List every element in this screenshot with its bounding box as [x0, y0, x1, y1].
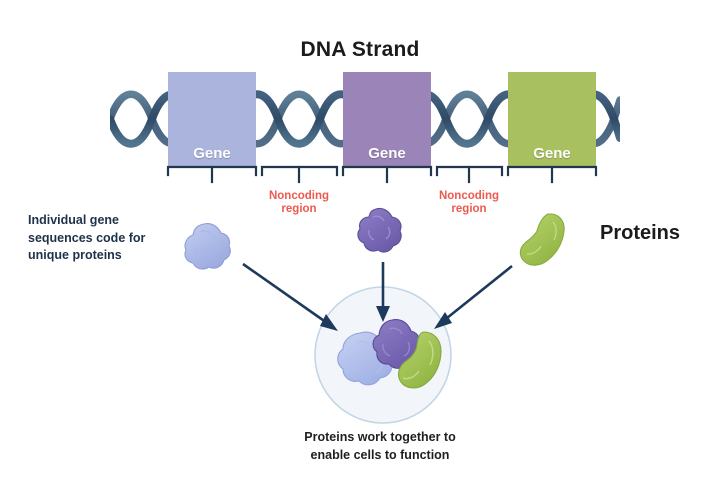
arrow-icon-middle	[376, 262, 390, 322]
arrow-icon-right	[434, 266, 512, 329]
dna-gene-protein-diagram: DNA Strand Gene Gene Gene	[0, 0, 720, 503]
arrows-layer	[0, 0, 720, 503]
arrow-icon-left	[243, 264, 338, 331]
